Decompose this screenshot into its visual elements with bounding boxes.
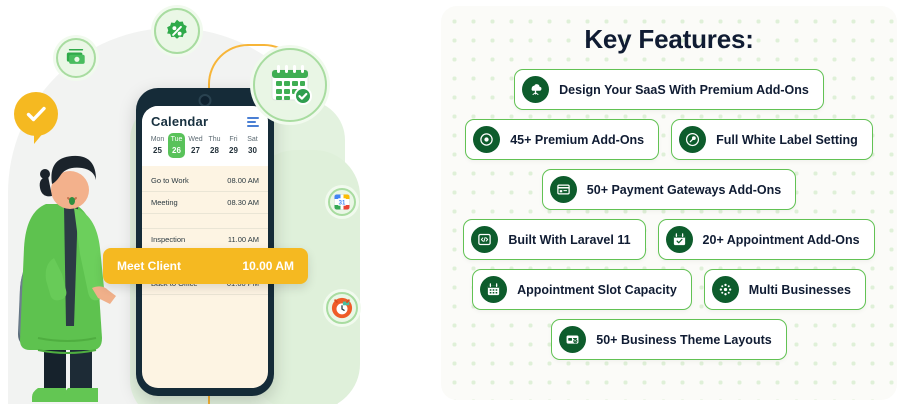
day-number: 27 [187, 145, 204, 156]
day-name: Fri [225, 135, 242, 145]
day-number: 26 [168, 145, 185, 156]
schedule-item-name: Meeting [151, 198, 178, 207]
feature-pill-theme-layouts[interactable]: 50+ Business Theme Layouts [551, 319, 786, 360]
cloud-tree-icon [522, 76, 549, 103]
feature-row: Built With Laravel 11 20+ Appointment Ad… [441, 219, 897, 260]
feature-row: 45+ Premium Add-Ons Full White Label Set… [441, 119, 897, 160]
schedule-item-time: 11.00 AM [228, 235, 259, 244]
feature-pill-premium-addons[interactable]: 45+ Premium Add-Ons [465, 119, 659, 160]
day-name: Wed [187, 135, 204, 145]
page-title: Key Features: [441, 24, 897, 55]
schedule-item-name: Inspection [151, 235, 185, 244]
feature-label: Design Your SaaS With Premium Add-Ons [559, 83, 809, 97]
illustration-panel: Calendar Mon 25 Tue 26 Wed 27 [0, 0, 441, 404]
feature-row: 50+ Business Theme Layouts [441, 319, 897, 360]
promo-banner: Calendar Mon 25 Tue 26 Wed 27 [0, 0, 903, 404]
day-number: 25 [149, 145, 166, 156]
feature-pill-laravel[interactable]: Built With Laravel 11 [463, 219, 645, 260]
calendar-days-strip: Mon 25 Tue 26 Wed 27 Thu 28 [142, 131, 268, 166]
calendar-day[interactable]: Sat 30 [244, 133, 261, 158]
calendar-check-icon [253, 48, 327, 122]
phone-screen: Calendar Mon 25 Tue 26 Wed 27 [142, 106, 268, 388]
code-brackets-icon [471, 226, 498, 253]
feature-label: Multi Businesses [749, 283, 851, 297]
day-number: 29 [225, 145, 242, 156]
target-dot-icon [473, 126, 500, 153]
calendar-day[interactable]: Thu 28 [206, 133, 223, 158]
schedule-item-placeholder [142, 214, 268, 229]
discount-badge-icon [154, 8, 200, 54]
feature-label: 20+ Appointment Add-Ons [703, 233, 860, 247]
check-bubble-icon [14, 92, 58, 136]
features-list: Design Your SaaS With Premium Add-Ons 45… [441, 69, 897, 360]
feature-label: Full White Label Setting [716, 133, 858, 147]
feature-pill-white-label[interactable]: Full White Label Setting [671, 119, 873, 160]
day-name: Tue [168, 135, 185, 145]
day-name: Thu [206, 135, 223, 145]
alarm-clock-icon [326, 292, 358, 324]
calendar-day[interactable]: Wed 27 [187, 133, 204, 158]
calendar-day[interactable]: Mon 25 [149, 133, 166, 158]
feature-label: Built With Laravel 11 [508, 233, 630, 247]
share-nodes-icon [712, 276, 739, 303]
card-check-icon [559, 326, 586, 353]
day-number: 28 [206, 145, 223, 156]
svg-text:31: 31 [339, 200, 346, 206]
feature-label: 50+ Payment Gateways Add-Ons [587, 183, 781, 197]
feature-row: Design Your SaaS With Premium Add-Ons [441, 69, 897, 110]
feature-label: Appointment Slot Capacity [517, 283, 677, 297]
highlighted-event-time: 10.00 AM [242, 259, 294, 273]
hamburger-icon[interactable] [247, 117, 259, 127]
calendar-check-icon [666, 226, 693, 253]
feature-pill-multi-businesses[interactable]: Multi Businesses [704, 269, 866, 310]
day-number: 30 [244, 145, 261, 156]
day-name: Mon [149, 135, 166, 145]
calendar-day[interactable]: Fri 29 [225, 133, 242, 158]
calendar-title: Calendar [151, 114, 208, 129]
schedule-item-name: Go to Work [151, 176, 189, 185]
key-features-panel: Key Features: Design Your SaaS With Prem… [441, 6, 897, 400]
feature-pill-slot-capacity[interactable]: Appointment Slot Capacity [472, 269, 692, 310]
schedule-item-time: 08.30 AM [227, 198, 259, 207]
feature-pill-design-saas[interactable]: Design Your SaaS With Premium Add-Ons [514, 69, 824, 110]
highlighted-event-name: Meet Client [117, 259, 181, 273]
feature-label: 50+ Business Theme Layouts [596, 333, 771, 347]
feature-row: 50+ Payment Gateways Add-Ons [441, 169, 897, 210]
payment-card-icon [550, 176, 577, 203]
feature-pill-appointment-addons[interactable]: 20+ Appointment Add-Ons [658, 219, 875, 260]
feature-pill-payment-gateways[interactable]: 50+ Payment Gateways Add-Ons [542, 169, 796, 210]
calendar-header: Calendar [142, 106, 268, 131]
money-cash-icon [56, 38, 96, 78]
highlighted-event-card[interactable]: Meet Client 10.00 AM [103, 248, 308, 284]
feature-row: Appointment Slot Capacity Multi Business… [441, 269, 897, 310]
day-name: Sat [244, 135, 261, 145]
google-calendar-icon: 31 [328, 188, 356, 216]
schedule-item[interactable]: Meeting 08.30 AM [142, 192, 268, 214]
feature-label: 45+ Premium Add-Ons [510, 133, 644, 147]
paint-brush-icon [679, 126, 706, 153]
schedule-item[interactable]: Go to Work 08.00 AM [142, 170, 268, 192]
calendar-grid-icon [480, 276, 507, 303]
calendar-day-selected[interactable]: Tue 26 [168, 133, 185, 158]
schedule-item-time: 08.00 AM [227, 176, 259, 185]
phone-mockup: Calendar Mon 25 Tue 26 Wed 27 [136, 88, 274, 396]
